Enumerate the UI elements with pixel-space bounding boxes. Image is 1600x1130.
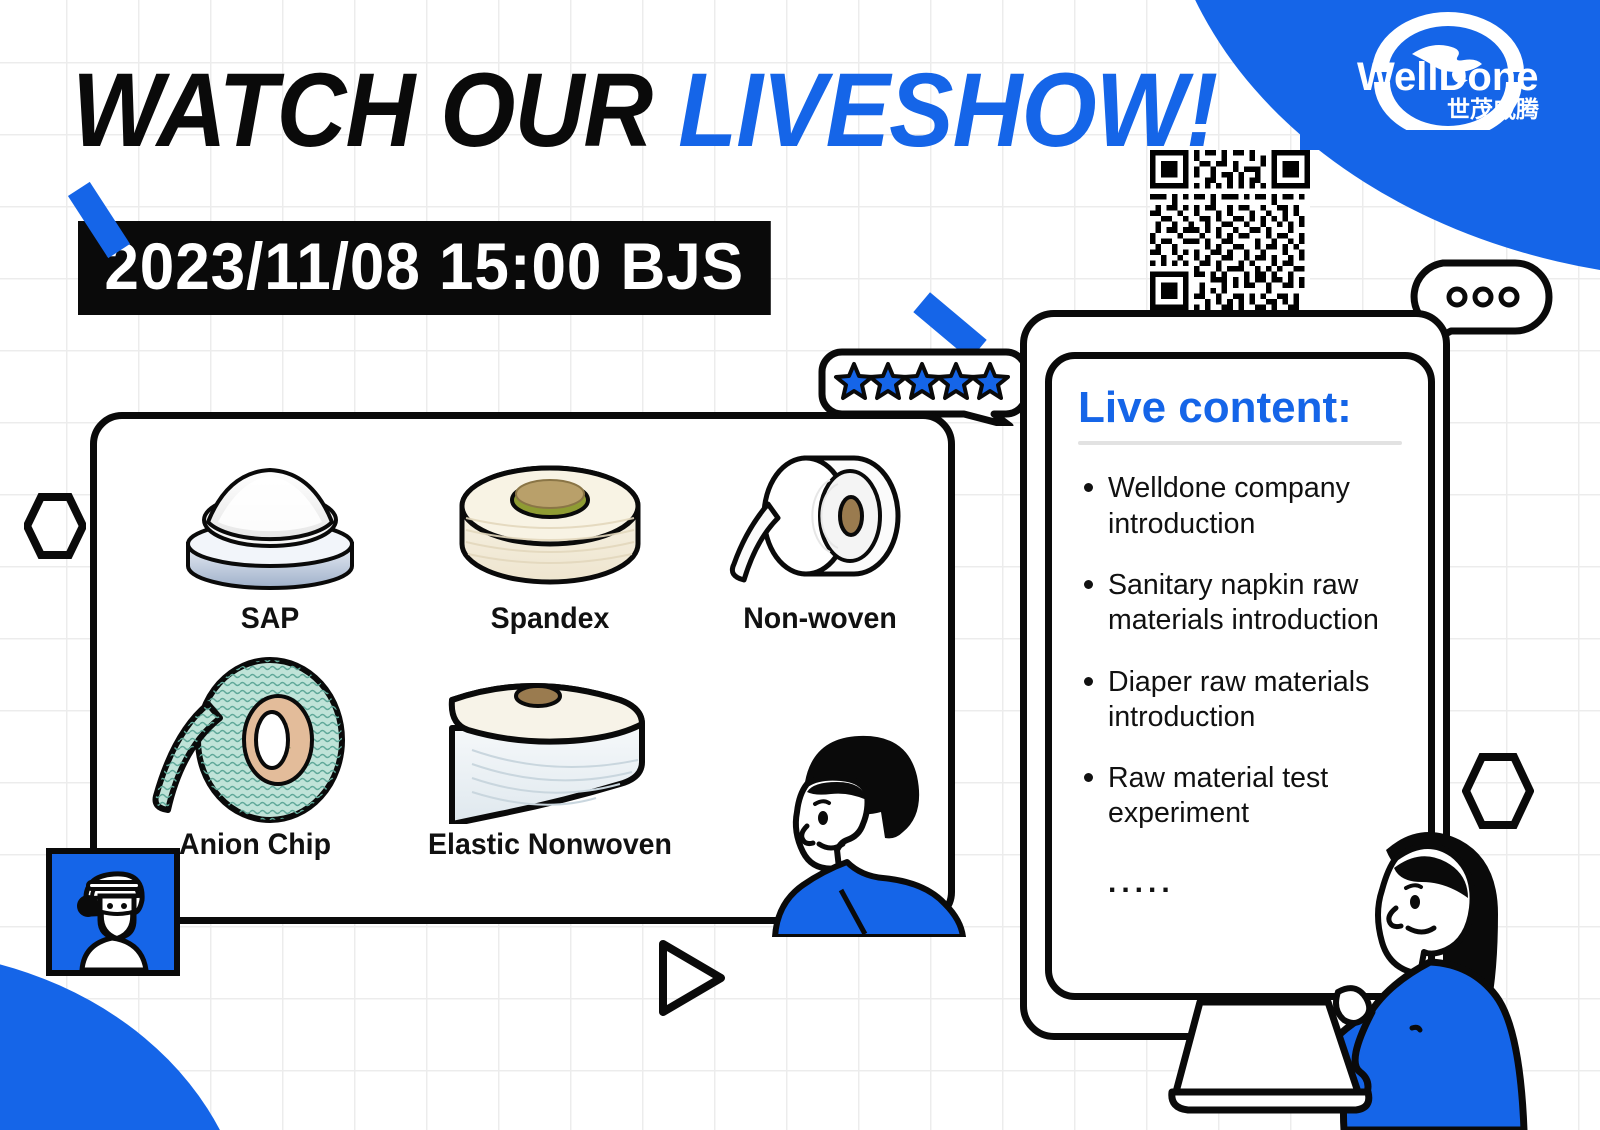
live-content-title: Live content: xyxy=(1078,385,1402,431)
logo-brand-text: WellDone xyxy=(1357,55,1539,99)
man-profile-illustration xyxy=(735,722,970,937)
play-button[interactable] xyxy=(655,938,727,1023)
list-item: Welldone company introduction xyxy=(1078,471,1402,542)
poster-canvas: WATCH OUR LIVESHOW! 2023/11/08 15:00 BJS xyxy=(0,0,1600,1130)
logo-chinese-text: 世茂威腾 xyxy=(1447,96,1540,123)
product-item-anion-chip: TTT TT Anion Chip xyxy=(130,656,380,862)
spandex-yarn-spool-icon xyxy=(440,448,660,598)
avatar[interactable] xyxy=(46,848,180,976)
elastic-nonwoven-roll-icon xyxy=(410,664,690,824)
page-title: WATCH OUR LIVESHOW! xyxy=(72,58,1217,163)
sap-powder-dish-icon xyxy=(160,448,380,598)
product-label: Elastic Nonwoven xyxy=(417,828,683,862)
product-item-nonwoven: Non-woven xyxy=(710,440,930,636)
qr-code[interactable] xyxy=(1150,150,1310,310)
nonwoven-roll-icon xyxy=(710,440,930,598)
product-label: Spandex xyxy=(446,602,655,636)
title-divider xyxy=(1078,441,1402,445)
anion-chip-roll-icon: TTT TT xyxy=(130,656,380,824)
product-item-sap: SAP xyxy=(160,448,380,636)
live-content-list: Welldone company introduction Sanitary n… xyxy=(1078,471,1402,832)
product-label: SAP xyxy=(166,602,375,636)
event-datetime-text: 2023/11/08 15:00 BJS xyxy=(78,221,770,315)
headline-part-1: WATCH OUR xyxy=(72,52,678,169)
product-item-spandex: Spandex xyxy=(440,448,660,636)
brand-logo: WellDone 世茂威腾 xyxy=(1312,10,1582,130)
headline-part-2: LIVESHOW xyxy=(678,52,1186,169)
product-label: Non-woven xyxy=(716,602,925,636)
list-item: Diaper raw materials introduction xyxy=(1078,665,1402,736)
list-item: Sanitary napkin raw materials introducti… xyxy=(1078,568,1402,639)
event-datetime-banner: 2023/11/08 15:00 BJS xyxy=(78,221,815,315)
hexagon-outline-icon xyxy=(24,492,86,560)
woman-laptop-illustration xyxy=(1168,812,1588,1130)
product-item-elastic-nonwoven: Elastic Nonwoven xyxy=(410,664,690,862)
